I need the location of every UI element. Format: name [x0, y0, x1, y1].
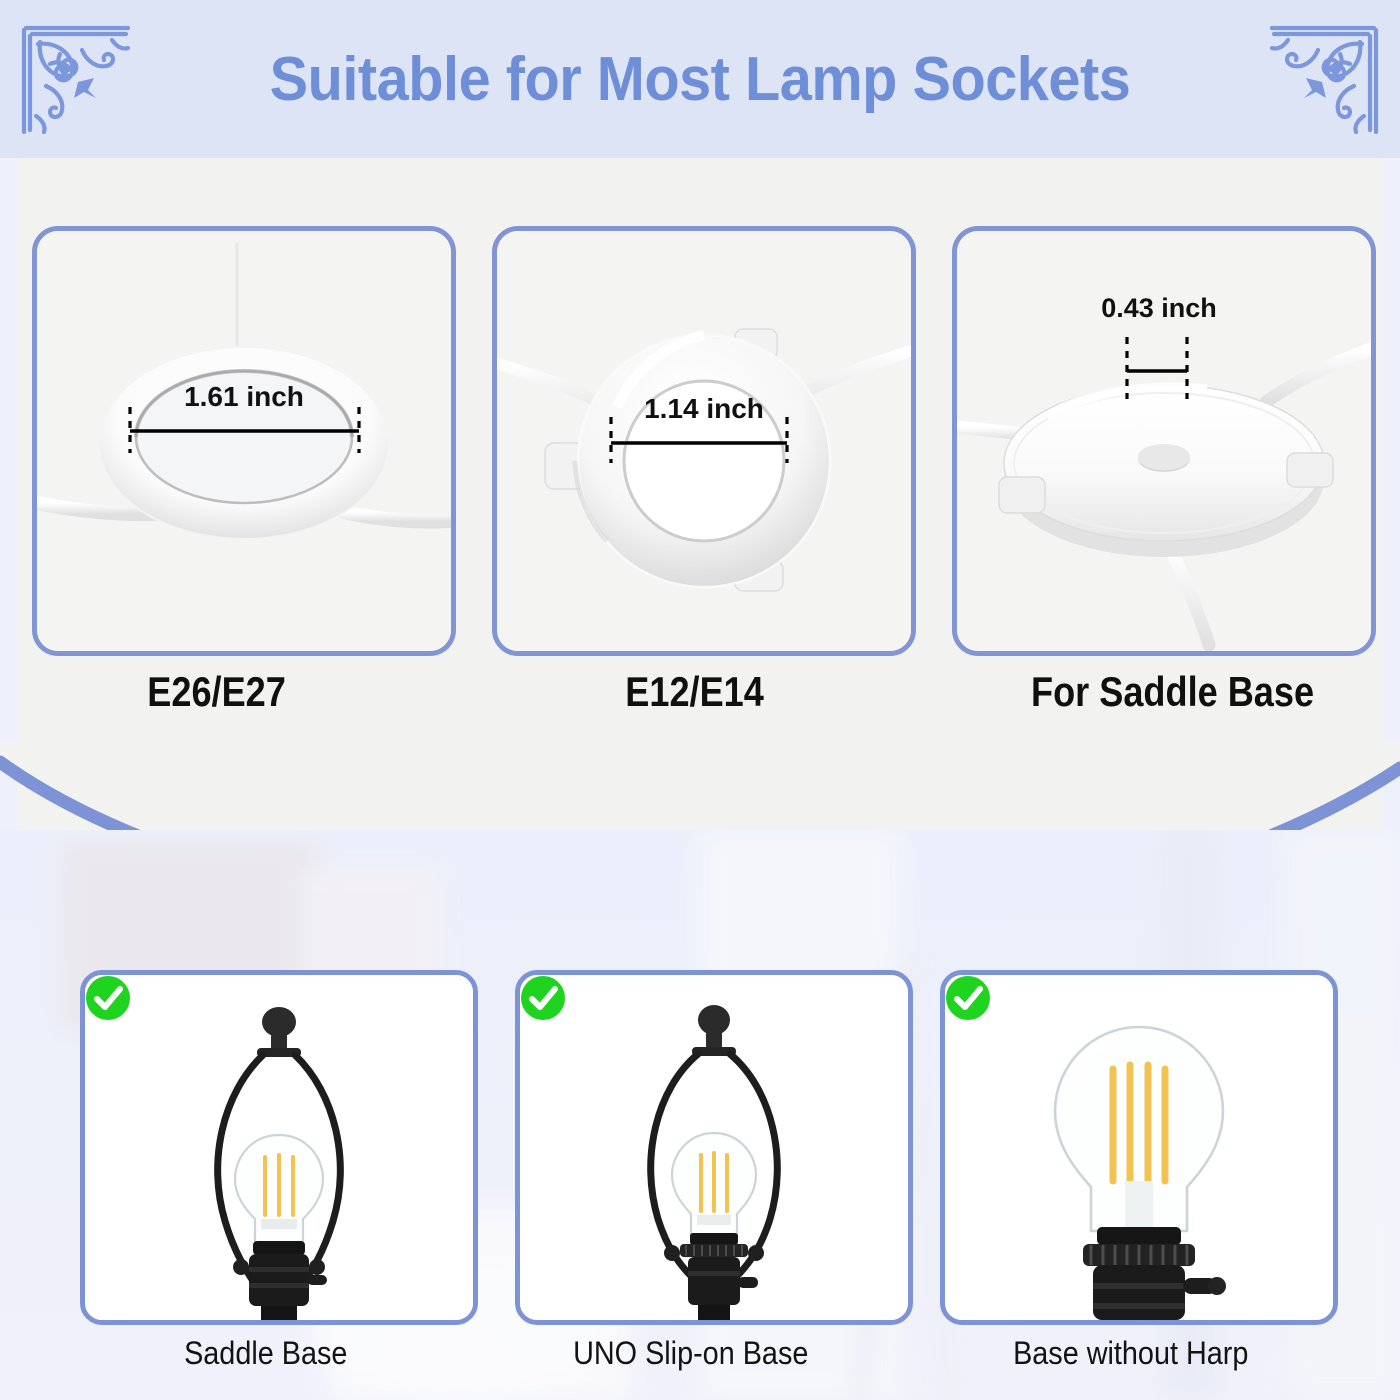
use-card-label-saddle-base: Saddle Base [184, 1335, 347, 1372]
spec-card-e12-e14[interactable]: 1.14 inch [492, 226, 916, 656]
spec-card-e26-e27[interactable]: 1.61 inch [32, 226, 456, 656]
green-check-icon [945, 975, 991, 1021]
dimension-label: 0.43 inch [1049, 293, 1269, 324]
header-banner: Suitable for Most Lamp Sockets [0, 0, 1400, 158]
use-card-saddle-base[interactable] [80, 970, 478, 1325]
spec-card-label-saddle-base: For Saddle Base [1031, 668, 1314, 716]
green-check-icon [520, 975, 566, 1021]
lamp-shade-ring-large [99, 347, 389, 539]
corner-flourish-ornament [1264, 20, 1384, 140]
use-card-base-without-harp[interactable] [940, 970, 1338, 1325]
spec-card-label-e12-e14: E12/E14 [625, 668, 764, 716]
page-title: Suitable for Most Lamp Sockets [49, 0, 1351, 158]
compatible-bases-section: Saddle Base UNO Slip-on Base Base withou… [0, 830, 1400, 1400]
use-card-label-base-without-harp: Base without Harp [1013, 1335, 1248, 1372]
dimension-label: 1.61 inch [37, 381, 451, 413]
dimension-label: 1.14 inch [497, 393, 911, 425]
use-card-uno-slip-on-base[interactable] [515, 970, 913, 1325]
green-check-icon [85, 975, 131, 1021]
spec-card-label-e26-e27: E26/E27 [147, 668, 286, 716]
spec-card-saddle-base[interactable]: 0.43 inch [952, 226, 1376, 656]
use-card-label-uno-slip-on-base: UNO Slip-on Base [573, 1335, 808, 1372]
socket-size-section: 1.61 inch [18, 158, 1382, 830]
